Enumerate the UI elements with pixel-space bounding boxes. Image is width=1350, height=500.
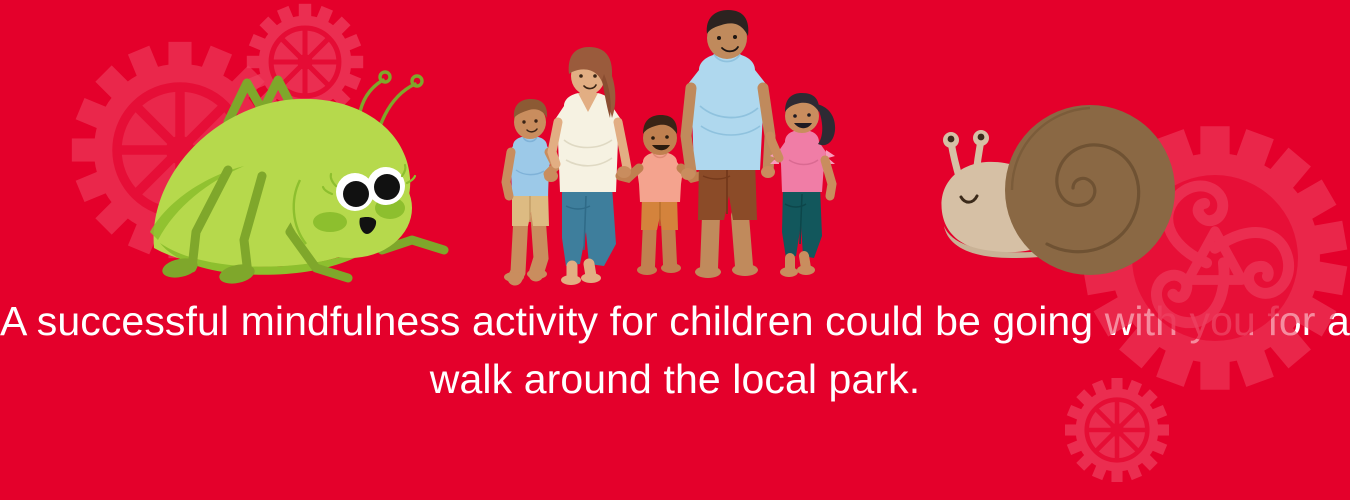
- grasshopper-pupil-left: [343, 181, 369, 207]
- family-member-girl-right: [770, 93, 835, 277]
- girl-right-top: [778, 130, 826, 192]
- mindfulness-banner: A successful mindfulness activity for ch…: [0, 0, 1350, 500]
- grasshopper-antenna-tip-left: [380, 72, 390, 82]
- mother-jeans: [562, 186, 616, 266]
- toddler-shirt: [637, 152, 683, 202]
- family-member-father: [686, 10, 770, 278]
- grasshopper-cheek-left: [313, 212, 347, 232]
- girl-right-ponytail: [816, 104, 835, 145]
- illustration-layer: [0, 0, 1350, 500]
- family-member-mother: [552, 47, 627, 285]
- family-member-boy-left: [504, 99, 556, 282]
- boy-left-shirt: [508, 136, 552, 196]
- grasshopper-illustration: [150, 72, 444, 287]
- snail-illustration: [941, 105, 1175, 275]
- grasshopper-pupil-right: [374, 174, 400, 200]
- grasshopper-antenna-tip-right: [412, 76, 422, 86]
- family-illustration: [504, 10, 835, 285]
